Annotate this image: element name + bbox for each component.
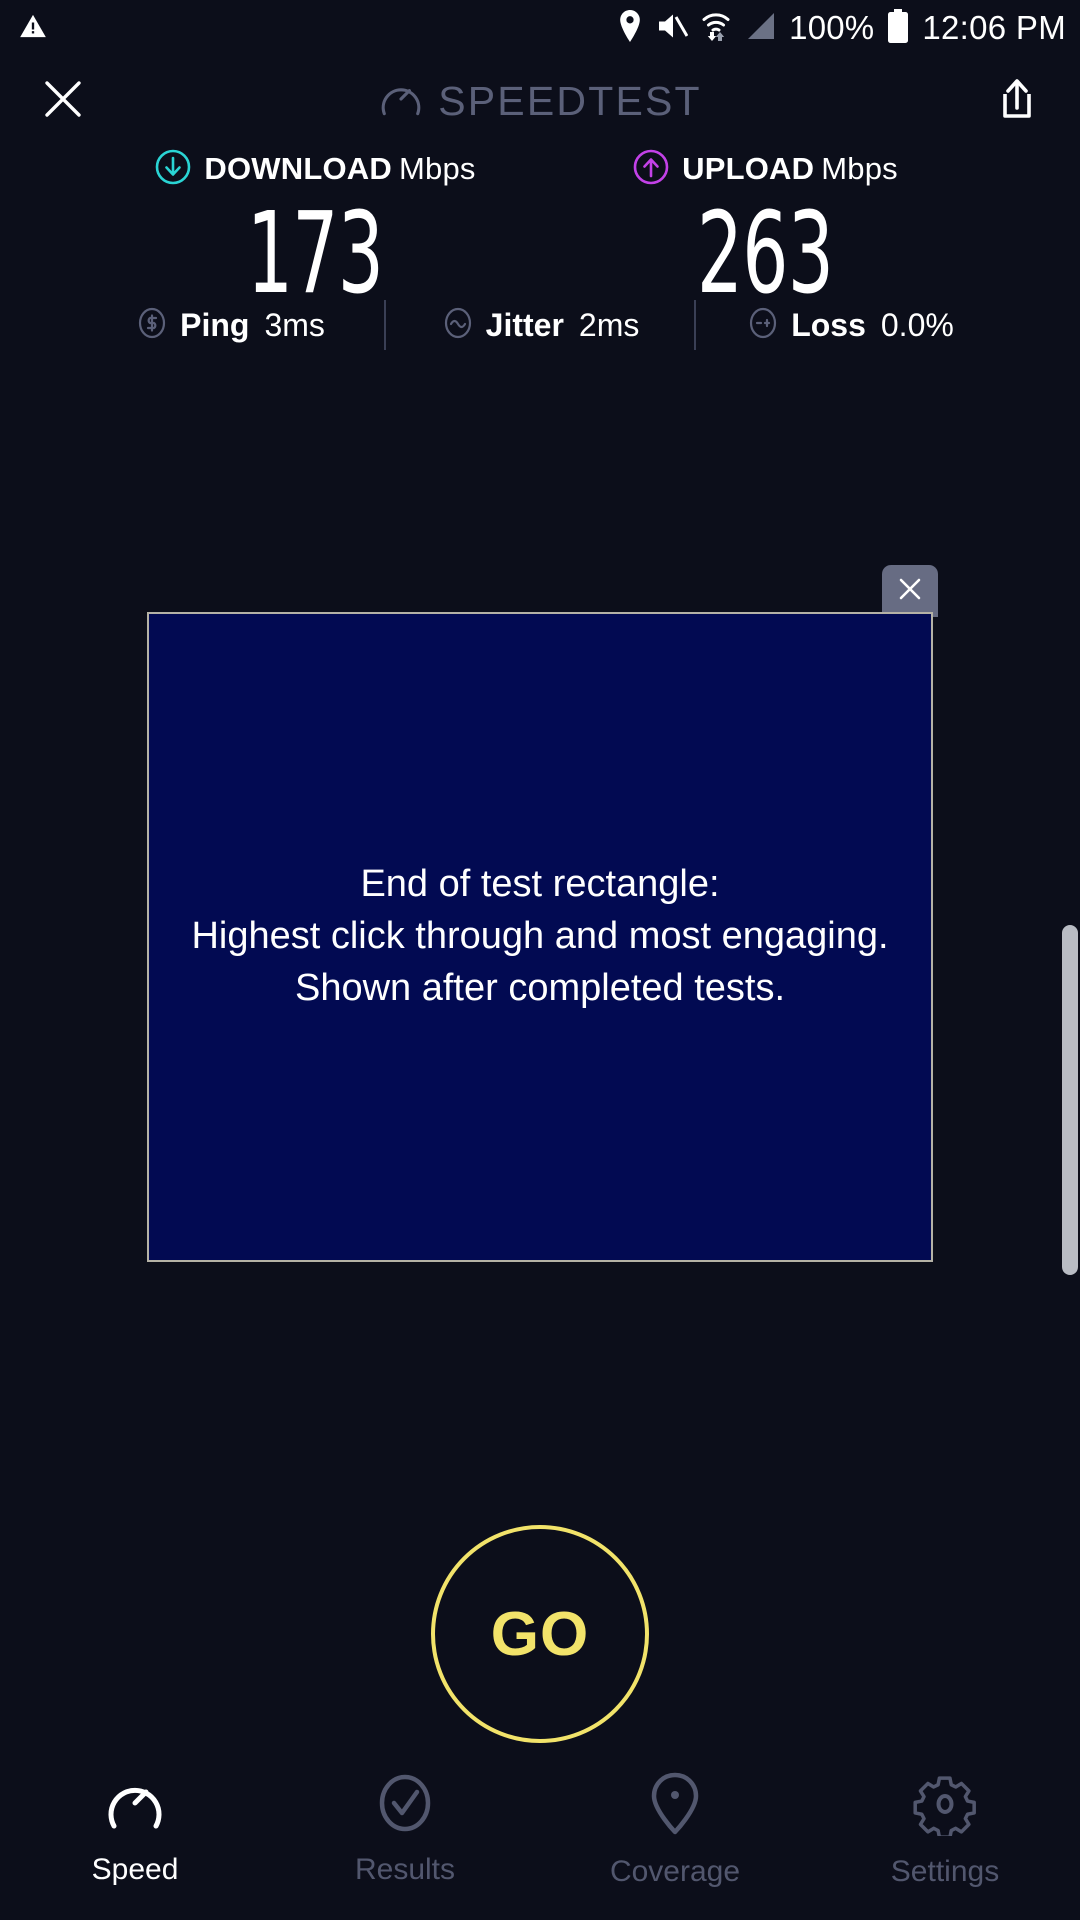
download-arrow-icon [154,148,192,191]
check-circle-icon [373,1772,437,1839]
divider [694,300,696,350]
nav-item-settings[interactable]: Settings [810,1772,1080,1889]
speedometer-icon [103,1772,167,1839]
gear-icon [913,1772,977,1841]
upload-value: 263 [628,198,902,310]
ping-value: 3ms [264,307,324,344]
close-icon [895,574,925,609]
nav-label-speed: Speed [92,1853,179,1887]
nav-item-speed[interactable]: Speed [0,1772,270,1887]
location-pin-icon [617,10,643,47]
nav-item-results[interactable]: Results [270,1772,540,1887]
cellular-signal-icon [744,11,776,46]
jitter-icon [441,306,475,345]
results-summary: DOWNLOADMbps 173 UPLOADMbps 263 [0,148,1080,310]
nav-label-coverage: Coverage [610,1855,740,1889]
ping-cell: Ping 3ms [110,306,350,345]
download-value: 173 [178,198,452,310]
ping-label: Ping [180,307,249,344]
advertisement-banner[interactable]: End of test rectangle: Highest click thr… [147,612,933,1262]
close-icon [39,75,87,128]
go-button[interactable]: GO [431,1525,649,1743]
loss-cell: Loss 0.0% [730,306,970,345]
volume-mute-icon [656,11,688,46]
download-upload-row: DOWNLOADMbps 173 UPLOADMbps 263 [0,148,1080,310]
loss-icon [746,306,780,345]
speedtest-app-screen: 100% 12:06 PM SPEEDTEST [0,0,1080,1920]
loss-value: 0.0% [881,307,954,344]
nav-label-settings: Settings [891,1855,999,1889]
warning-triangle-icon [18,12,48,45]
loss-label: Loss [791,307,866,344]
ad-text: End of test rectangle: Highest click thr… [173,859,906,1014]
ping-icon [135,306,169,345]
location-pin-icon [647,1772,703,1841]
jitter-label: Jitter [486,307,564,344]
share-button[interactable] [982,66,1052,136]
android-status-bar: 100% 12:06 PM [0,0,1080,56]
upload-arrow-icon [632,148,670,191]
ad-line-1: End of test rectangle: [191,859,888,911]
status-bar-left [18,12,48,45]
ping-jitter-loss-row: Ping 3ms Jitter 2ms Loss 0.0 [0,300,1080,350]
download-metric: DOWNLOADMbps 173 [125,148,505,310]
download-label: DOWNLOADMbps [204,151,475,187]
upload-header: UPLOADMbps [575,148,955,190]
ad-line-3: Shown after completed tests. [191,963,888,1015]
brand-title: SPEEDTEST [438,78,702,125]
share-icon [995,76,1039,127]
close-button[interactable] [28,66,98,136]
speedometer-icon [378,76,424,127]
status-bar-right: 100% 12:06 PM [617,9,1066,48]
download-header: DOWNLOADMbps [125,148,505,190]
jitter-value: 2ms [579,307,639,344]
app-header: SPEEDTEST [0,58,1080,144]
upload-metric: UPLOADMbps 263 [575,148,955,310]
status-bar-clock: 12:06 PM [922,11,1066,44]
go-button-label: GO [491,1599,589,1670]
jitter-cell: Jitter 2ms [420,306,660,345]
brand-lockup: SPEEDTEST [0,58,1080,144]
nav-item-coverage[interactable]: Coverage [540,1772,810,1889]
wifi-transfer-icon [701,10,731,47]
nav-label-results: Results [355,1853,455,1887]
divider [384,300,386,350]
ad-close-button[interactable] [882,565,938,617]
bottom-navigation-bar: Speed Results Coverage [0,1760,1080,1920]
battery-full-icon [887,9,909,48]
upload-label: UPLOADMbps [682,151,898,187]
ad-line-2: Highest click through and most engaging. [191,911,888,963]
vertical-scrollbar[interactable] [1062,925,1078,1275]
battery-percent-label: 100% [789,11,874,44]
